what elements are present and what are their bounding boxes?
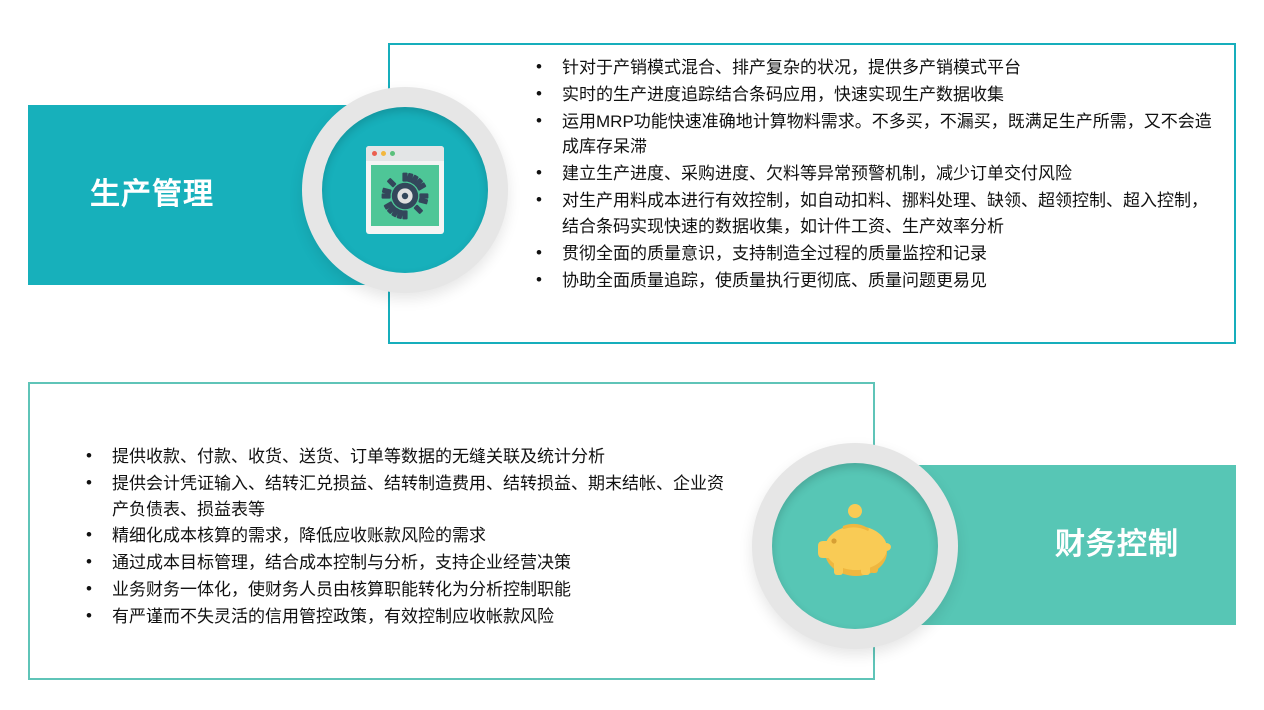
list-item: 精细化成本核算的需求，降低应收账款风险的需求 xyxy=(78,523,738,549)
window-maximize-dot-icon xyxy=(390,151,395,156)
list-item: 提供收款、付款、收货、送货、订单等数据的无缝关联及统计分析 xyxy=(78,444,738,470)
gear-icon xyxy=(381,172,429,220)
finance-bullet-list: 提供收款、付款、收货、送货、订单等数据的无缝关联及统计分析 提供会计凭证输入、结… xyxy=(78,444,738,631)
finance-icon-badge-inner xyxy=(772,463,938,629)
window-screen xyxy=(371,165,439,226)
list-item: 业务财务一体化，使财务人员由核算职能转化为分析控制职能 xyxy=(78,577,738,603)
finance-banner-label: 财务控制 xyxy=(1055,530,1179,560)
list-item: 建立生产进度、采购进度、欠料等异常预警机制，减少订单交付风险 xyxy=(528,161,1218,187)
finance-icon-badge xyxy=(752,443,958,649)
production-banner-label: 生产管理 xyxy=(90,180,214,210)
window-gear-icon xyxy=(366,146,444,234)
list-item: 运用MRP功能快速准确地计算物料需求。不多买，不漏买，既满足生产所需，又不会造成… xyxy=(528,109,1218,161)
production-icon-badge xyxy=(302,87,508,293)
list-item: 实时的生产进度追踪结合条码应用，快速实现生产数据收集 xyxy=(528,82,1218,108)
piggy-bank-icon xyxy=(809,500,901,592)
production-icon-badge-inner xyxy=(322,107,488,273)
window-close-dot-icon xyxy=(372,151,377,156)
slide-canvas: 针对于产销模式混合、排产复杂的状况，提供多产销模式平台 实时的生产进度追踪结合条… xyxy=(0,0,1264,710)
list-item: 协助全面质量追踪，使质量执行更彻底、质量问题更易见 xyxy=(528,268,1218,294)
list-item: 对生产用料成本进行有效控制，如自动扣料、挪料处理、缺领、超领控制、超入控制，结合… xyxy=(528,188,1218,240)
production-bullet-list: 针对于产销模式混合、排产复杂的状况，提供多产销模式平台 实时的生产进度追踪结合条… xyxy=(528,55,1218,294)
window-minimize-dot-icon xyxy=(381,151,386,156)
list-item: 贯彻全面的质量意识，支持制造全过程的质量监控和记录 xyxy=(528,241,1218,267)
list-item: 提供会计凭证输入、结转汇兑损益、结转制造费用、结转损益、期末结帐、企业资产负债表… xyxy=(78,471,738,523)
list-item: 针对于产销模式混合、排产复杂的状况，提供多产销模式平台 xyxy=(528,55,1218,81)
window-titlebar xyxy=(366,146,444,161)
list-item: 通过成本目标管理，结合成本控制与分析，支持企业经营决策 xyxy=(78,550,738,576)
list-item: 有严谨而不失灵活的信用管控政策，有效控制应收帐款风险 xyxy=(78,604,738,630)
